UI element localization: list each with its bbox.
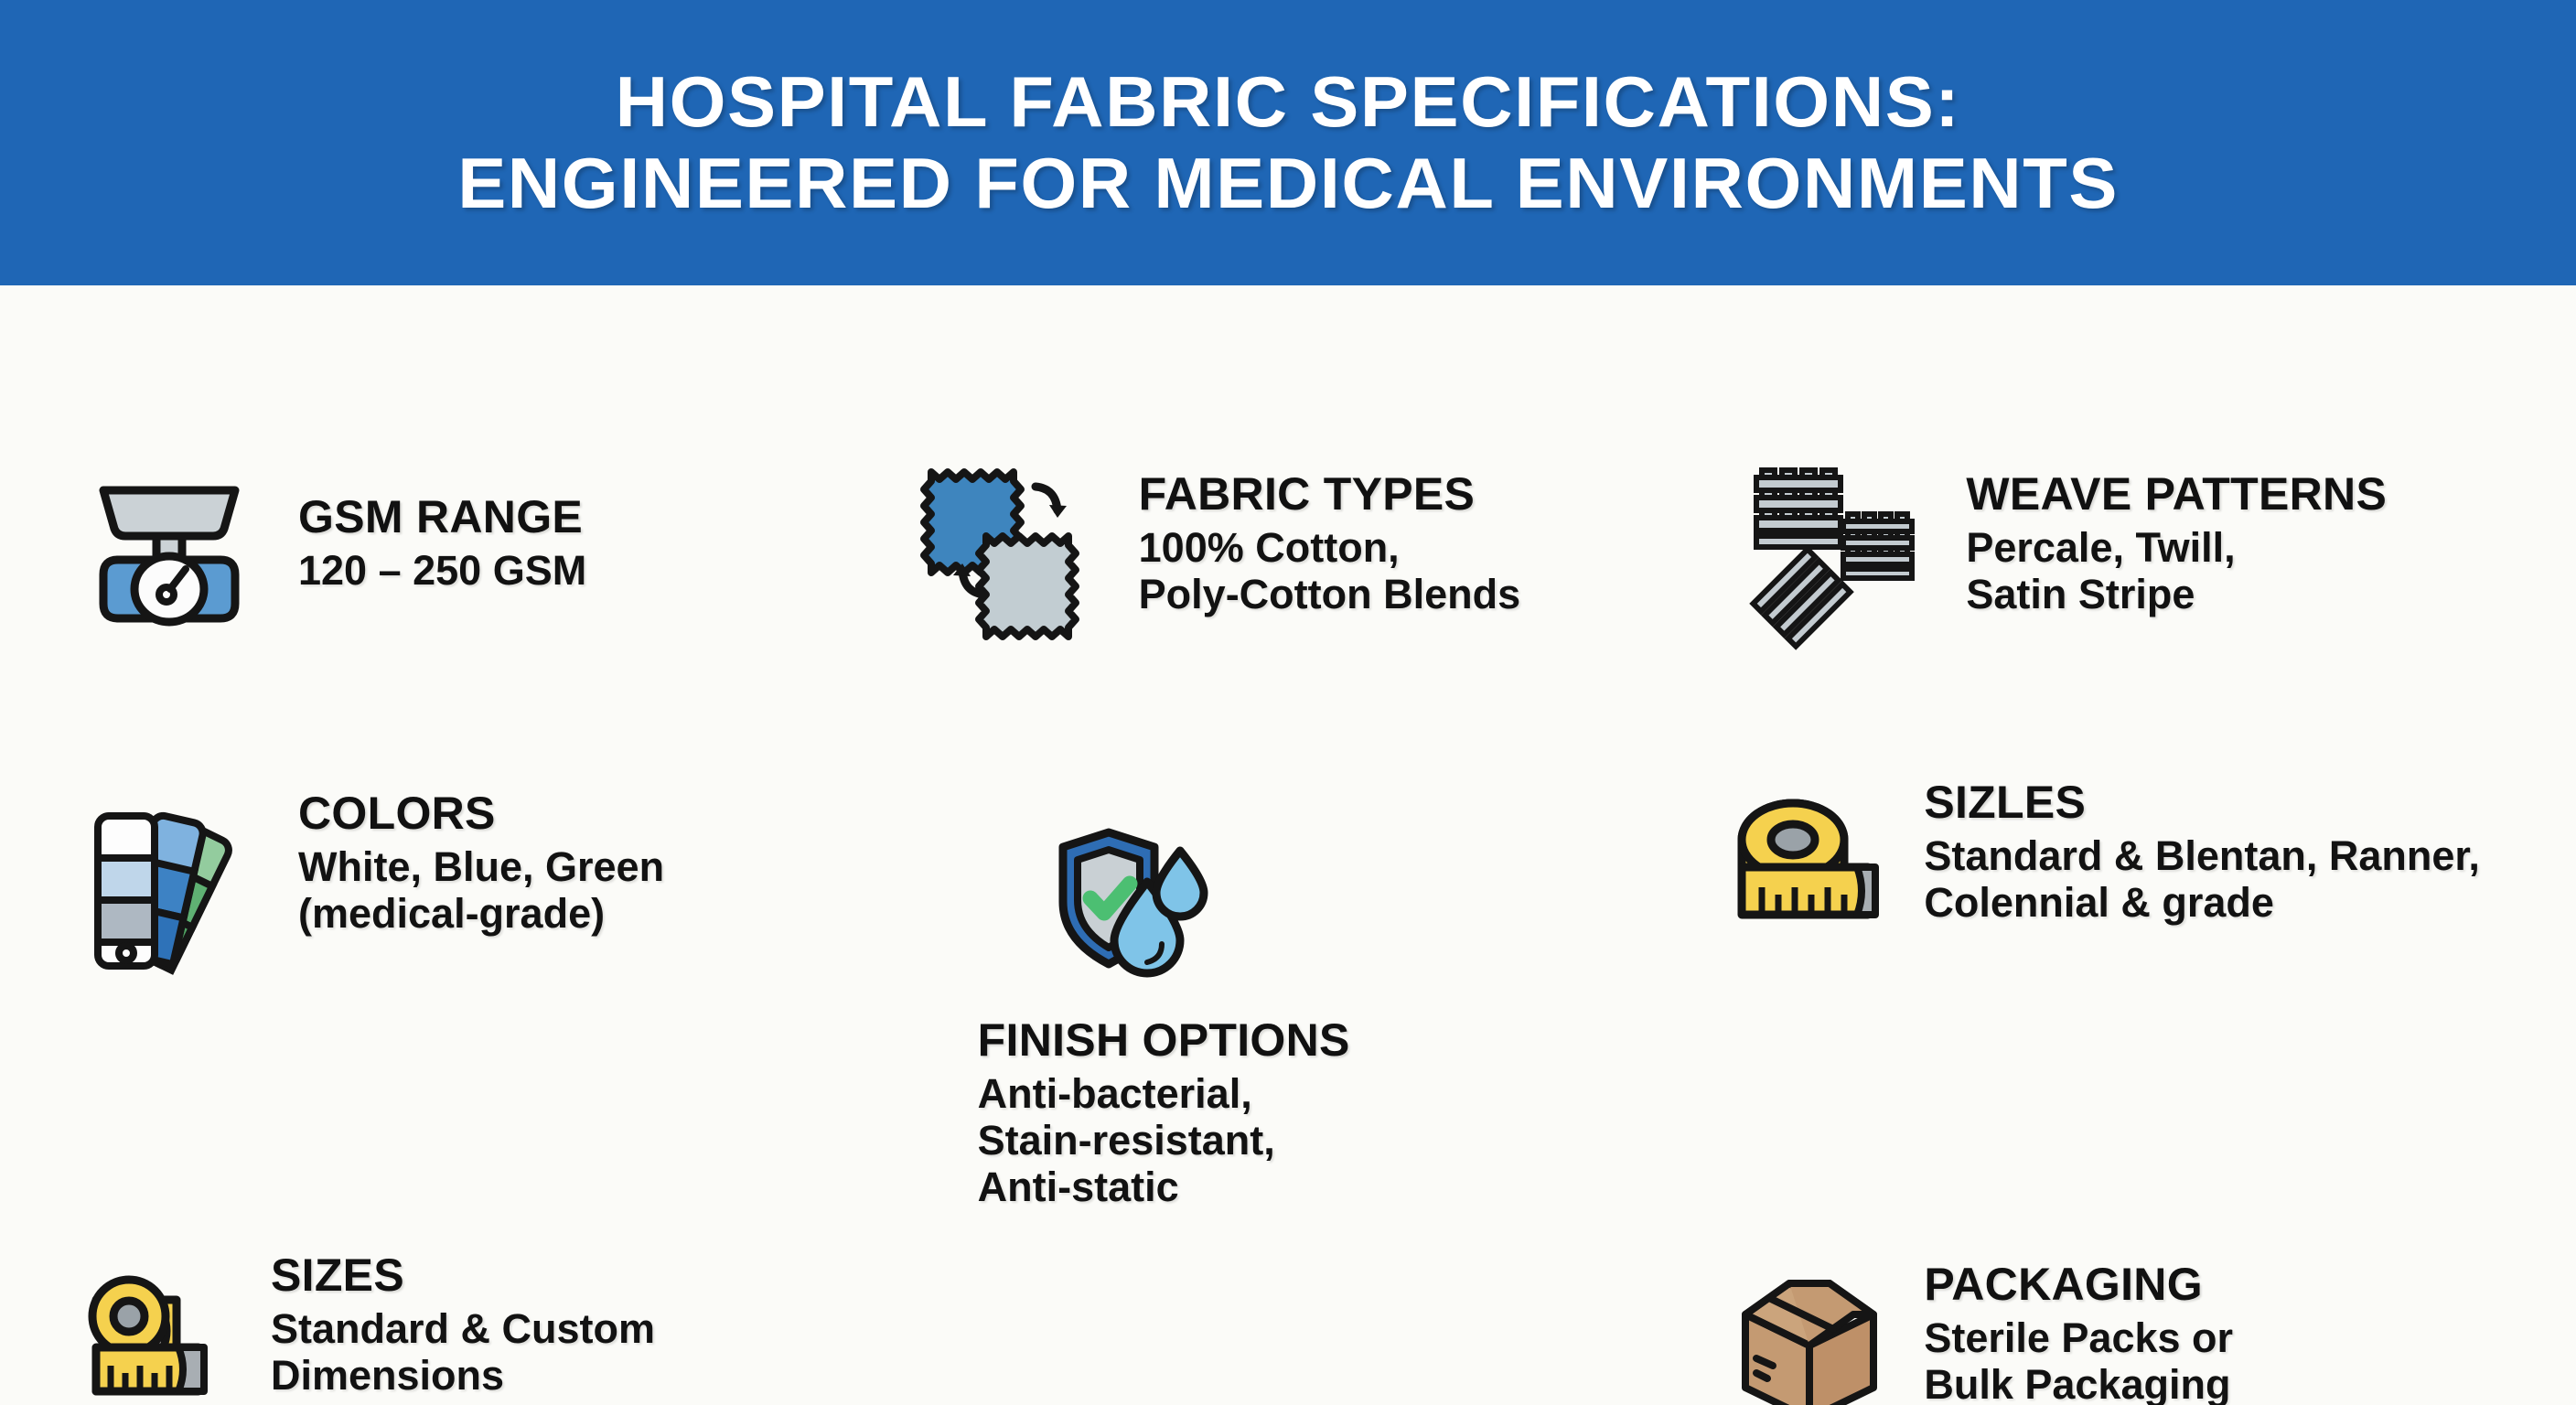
color-fan-deck-icon: [64, 786, 274, 996]
spec-item-weave-patterns: WEAVE PATTERNS Percale, Twill, Satin Str…: [1699, 313, 2521, 771]
finish-options-line-3: Anti-static: [978, 1164, 1350, 1210]
sizles-line-2: Colennial & grade: [1924, 879, 2480, 926]
sizes-desc: Standard & Custom Dimensions: [271, 1305, 655, 1400]
gsm-range-text-block: GSM RANGE 120 – 250 GSM: [298, 489, 586, 594]
header-title-line2: ENGINEERED FOR MEDICAL ENVIRONMENTS: [457, 143, 2119, 224]
fabric-types-text-block: FABRIC TYPES 100% Cotton, Poly-Cotton Bl…: [1139, 467, 1520, 618]
spec-item-colors: COLORS White, Blue, Green (medical-grade…: [55, 777, 877, 1220]
sizes-text-block: SIZES Standard & Custom Dimensions: [271, 1248, 655, 1400]
colors-title: COLORS: [298, 789, 664, 838]
sizes-line-1: Standard & Custom: [271, 1305, 655, 1352]
sizles-desc: Standard & Blentan, Ranner, Colennial & …: [1924, 832, 2480, 927]
finish-options-line-2: Stain-resistant,: [978, 1117, 1350, 1164]
sizles-text-block: SIZLES Standard & Blentan, Ranner, Colen…: [1924, 775, 2480, 927]
gsm-range-line-1: 120 – 250 GSM: [298, 547, 586, 594]
packaging-title: PACKAGING: [1924, 1260, 2233, 1309]
spec-item-sizles: SIZLES Standard & Blentan, Ranner, Colen…: [1699, 766, 2521, 1220]
sizles-title: SIZLES: [1924, 778, 2480, 827]
spec-item-gsm-range: GSM RANGE 120 – 250 GSM: [55, 313, 877, 771]
fabric-swatches-exchange-icon: [905, 436, 1115, 647]
finish-options-desc: Anti-bacterial, Stain-resistant, Anti-st…: [978, 1070, 1350, 1211]
weighing-scale-icon: [64, 436, 274, 647]
cardboard-box-icon: [1717, 1257, 1900, 1405]
spec-item-finish-options: FINISH OPTIONS Anti-bacterial, Stain-res…: [877, 799, 1700, 1220]
content-area: GSM RANGE 120 – 250 GSM: [0, 285, 2576, 1405]
sizes-line-2: Dimensions: [271, 1352, 655, 1399]
tape-measure-icon: [64, 1248, 247, 1405]
weave-patterns-title: WEAVE PATTERNS: [1966, 470, 2387, 519]
tape-measure-icon: [1717, 775, 1900, 958]
finish-options-text-block: FINISH OPTIONS Anti-bacterial, Stain-res…: [978, 1013, 1350, 1211]
weave-patterns-desc: Percale, Twill, Satin Stripe: [1966, 524, 2387, 618]
weave-patterns-text-block: WEAVE PATTERNS Percale, Twill, Satin Str…: [1966, 467, 2387, 618]
fabric-types-title: FABRIC TYPES: [1139, 470, 1520, 519]
sizes-title: SIZES: [271, 1251, 655, 1300]
colors-line-2: (medical-grade): [298, 890, 664, 937]
weave-patterns-line-2: Satin Stripe: [1966, 571, 2387, 617]
colors-line-1: White, Blue, Green: [298, 843, 664, 890]
grid-spacer-cell: [877, 1220, 1700, 1405]
finish-options-title: FINISH OPTIONS: [978, 1016, 1350, 1065]
weave-patterns-line-1: Percale, Twill,: [1966, 524, 2387, 571]
header-banner: HOSPITAL FABRIC SPECIFICATIONS: ENGINEER…: [0, 0, 2576, 285]
fabric-types-desc: 100% Cotton, Poly-Cotton Blends: [1139, 524, 1520, 618]
packaging-text-block: PACKAGING Sterile Packs or Bulk Packagin…: [1924, 1257, 2233, 1405]
spec-item-fabric-types: FABRIC TYPES 100% Cotton, Poly-Cotton Bl…: [877, 313, 1700, 771]
finish-options-line-1: Anti-bacterial,: [978, 1070, 1350, 1117]
packaging-desc: Sterile Packs or Bulk Packaging: [1924, 1314, 2233, 1405]
infographic-root: HOSPITAL FABRIC SPECIFICATIONS: ENGINEER…: [0, 0, 2576, 1405]
colors-desc: White, Blue, Green (medical-grade): [298, 843, 664, 938]
shield-check-water-drops-icon: [996, 808, 1207, 1018]
weave-swatches-icon: [1732, 436, 1942, 647]
fabric-types-line-2: Poly-Cotton Blends: [1139, 571, 1520, 617]
colors-text-block: COLORS White, Blue, Green (medical-grade…: [298, 786, 664, 938]
packaging-line-2: Bulk Packaging: [1924, 1361, 2233, 1405]
header-title-line1: HOSPITAL FABRIC SPECIFICATIONS:: [616, 61, 1961, 143]
spec-grid: GSM RANGE 120 – 250 GSM: [55, 322, 2521, 1405]
packaging-line-1: Sterile Packs or: [1924, 1314, 2233, 1361]
gsm-range-desc: 120 – 250 GSM: [298, 547, 586, 594]
gsm-range-title: GSM RANGE: [298, 493, 586, 542]
fabric-types-line-1: 100% Cotton,: [1139, 524, 1520, 571]
spec-item-packaging: PACKAGING Sterile Packs or Bulk Packagin…: [1699, 1248, 2521, 1405]
spec-item-sizes: SIZES Standard & Custom Dimensions: [55, 1239, 877, 1405]
sizles-line-1: Standard & Blentan, Ranner,: [1924, 832, 2480, 879]
